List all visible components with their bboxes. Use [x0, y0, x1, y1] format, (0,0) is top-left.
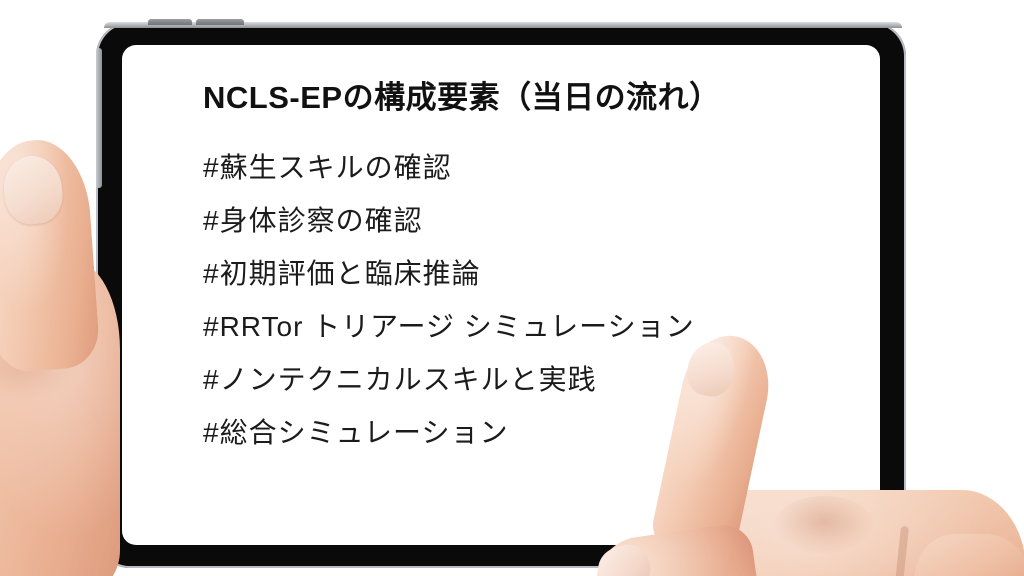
screenshot-root: NCLS-EPの構成要素（当日の流れ） #蘇生スキルの確認 #身体診察の確認 #…: [0, 0, 1024, 576]
tablet-screen[interactable]: NCLS-EPの構成要素（当日の流れ） #蘇生スキルの確認 #身体診察の確認 #…: [122, 45, 880, 545]
slide-bullet-list: #蘇生スキルの確認 #身体診察の確認 #初期評価と臨床推論 #RRTor トリア…: [203, 141, 695, 459]
list-item: #蘇生スキルの確認: [203, 141, 695, 194]
list-item: #ノンテクニカルスキルと実践: [203, 353, 695, 406]
list-item: #初期評価と臨床推論: [203, 247, 695, 300]
volume-down-button[interactable]: [196, 19, 244, 25]
left-hand-thumb: [0, 137, 101, 374]
list-item: #身体診察の確認: [203, 194, 695, 247]
left-hand-crease: [0, 330, 82, 400]
page-title: NCLS-EPの構成要素（当日の流れ）: [203, 72, 721, 117]
list-item: #RRTor トリアージ シミュレーション: [203, 300, 695, 353]
right-hand-folded-fingers: [914, 534, 1024, 576]
left-hand-thumbnail: [1, 153, 66, 227]
volume-up-button[interactable]: [148, 19, 192, 25]
list-item: #総合シミュレーション: [203, 406, 695, 459]
tablet-left-rail: [96, 48, 102, 188]
